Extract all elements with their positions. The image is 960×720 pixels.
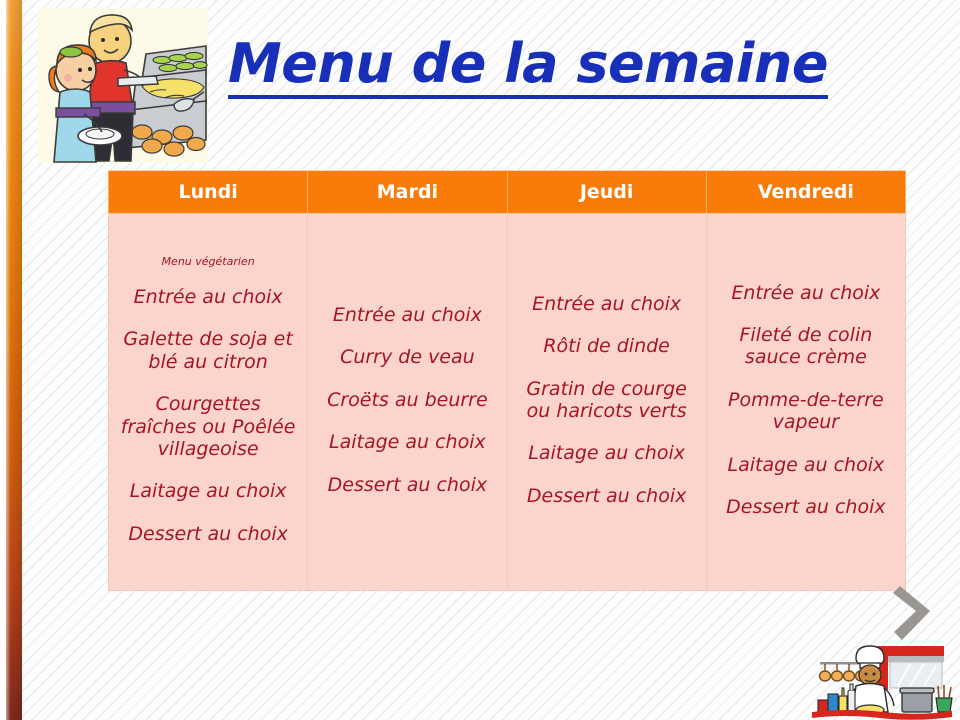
menu-item: Rôti de dinde — [514, 335, 700, 357]
menu-item: Dessert au choix — [115, 523, 301, 545]
menu-cell-lundi: Menu végétarien Entrée au choix Galette … — [109, 214, 308, 591]
menu-item: Laitage au choix — [115, 480, 301, 502]
menu-item: Galette de soja et blé au citron — [115, 328, 301, 373]
menu-item: Entrée au choix — [514, 293, 700, 315]
menu-item: Dessert au choix — [314, 474, 500, 496]
table-row: Menu végétarien Entrée au choix Galette … — [109, 214, 906, 591]
menu-item: Croëts au beurre — [314, 389, 500, 411]
menu-item: Laitage au choix — [713, 454, 899, 476]
column-header-jeudi: Jeudi — [507, 171, 706, 214]
menu-cell-jeudi: Entrée au choix Rôti de dinde Gratin de … — [507, 214, 706, 591]
menu-item: Entrée au choix — [314, 304, 500, 326]
orange-gradient-stripe — [6, 0, 22, 720]
menu-item: Pomme-de-terre vapeur — [713, 389, 899, 434]
menu-item: Entrée au choix — [713, 282, 899, 304]
menu-item: Laitage au choix — [314, 431, 500, 453]
menu-item: Fileté de colin sauce crème — [713, 324, 899, 369]
page-title: Menu de la semaine — [218, 36, 838, 93]
chef-clipart — [806, 642, 954, 720]
vegetarian-note: Menu végétarien — [115, 255, 301, 268]
title-block: Menu de la semaine — [218, 36, 838, 99]
cafeteria-clipart — [38, 8, 208, 163]
menu-item: Gratin de courge ou haricots verts — [514, 378, 700, 423]
menu-item: Laitage au choix — [514, 442, 700, 464]
table-header-row: Lundi Mardi Jeudi Vendredi — [109, 171, 906, 214]
slide-left-margin — [0, 0, 6, 720]
weekly-menu-table: Lundi Mardi Jeudi Vendredi Menu végétari… — [108, 170, 906, 591]
menu-item: Dessert au choix — [514, 485, 700, 507]
menu-item: Entrée au choix — [115, 286, 301, 308]
column-header-mardi: Mardi — [308, 171, 507, 214]
chevron-right-icon — [892, 584, 938, 642]
title-underline — [228, 95, 828, 99]
menu-item: Curry de veau — [314, 346, 500, 368]
column-header-lundi: Lundi — [109, 171, 308, 214]
menu-item: Dessert au choix — [713, 496, 899, 518]
menu-item: Courgettes fraîches ou Poêlée villageois… — [115, 393, 301, 460]
slide-canvas: Menu de la semaine Lundi Mardi Jeudi Ven… — [0, 0, 960, 720]
menu-cell-mardi: Entrée au choix Curry de veau Croëts au … — [308, 214, 507, 591]
column-header-vendredi: Vendredi — [706, 171, 905, 214]
menu-cell-vendredi: Entrée au choix Fileté de colin sauce cr… — [706, 214, 905, 591]
